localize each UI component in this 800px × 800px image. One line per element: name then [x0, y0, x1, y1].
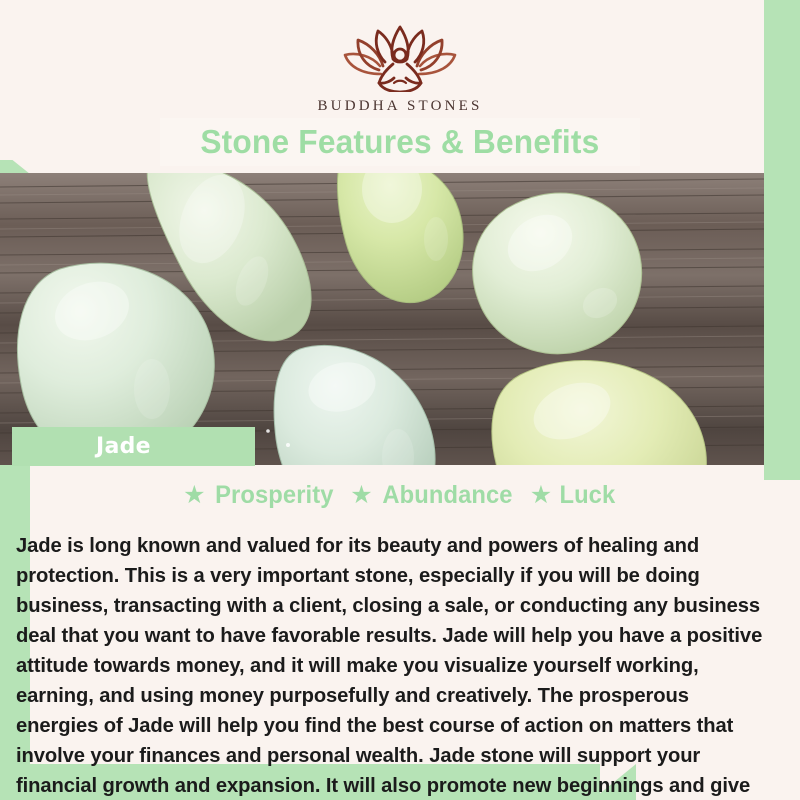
star-icon: ★ [183, 483, 205, 508]
star-icon: ★ [350, 483, 372, 508]
stone-name-band: Jade [12, 427, 255, 466]
benefit-label: Luck [560, 481, 616, 510]
benefits-row: ★ Prosperity ★ Abundance ★ Luck [0, 479, 800, 511]
stone-description: Jade is long known and valued for its be… [16, 531, 776, 800]
benefit-item: ★ Prosperity [183, 481, 336, 510]
benefit-label: Abundance [382, 481, 512, 510]
benefit-item: ★ Luck [530, 481, 617, 510]
benefit-item: ★ Abundance [350, 481, 515, 510]
stone-top-right [473, 193, 642, 354]
stone-name: Jade [96, 434, 151, 459]
jade-stones-illustration [0, 173, 764, 465]
star-icon: ★ [530, 483, 552, 508]
title-banner: Stone Features & Benefits [160, 118, 640, 166]
brand-logo: BUDDHA STONES [0, 22, 800, 115]
hero-photo [0, 173, 764, 465]
benefit-label: Prosperity [215, 481, 333, 510]
page-title: Stone Features & Benefits [200, 123, 599, 161]
infographic-card: BUDDHA STONES Stone Features & Benefits [0, 0, 800, 800]
lotus-meditation-icon [341, 22, 459, 92]
brand-name: BUDDHA STONES [317, 98, 482, 115]
